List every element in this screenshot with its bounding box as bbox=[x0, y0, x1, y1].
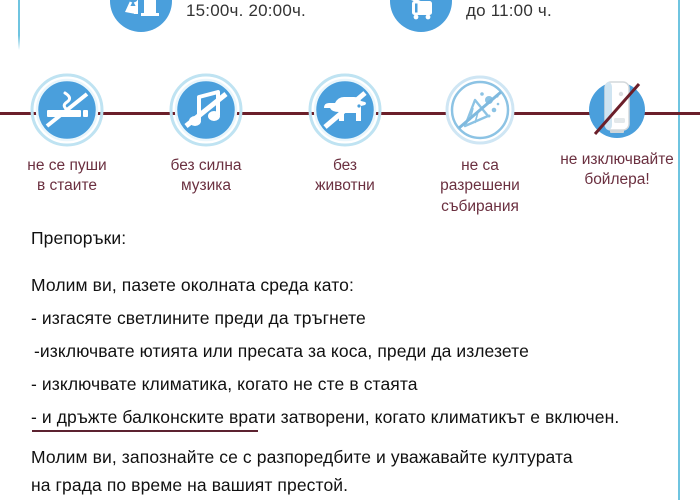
check-out-value: до 11:00 ч. bbox=[466, 1, 610, 21]
rule-item-no-loud-music: без силнамузика bbox=[131, 72, 281, 197]
recommendation-item-4: - и дръжте балконските врати затворени, … bbox=[31, 407, 676, 428]
recommendations-heading: Препоръки: bbox=[31, 228, 676, 249]
rule-caption-do-not-switch-off-boiler: не изключвайтебойлера! bbox=[542, 150, 692, 191]
footer-line-1: Молим ви, запознайте се с разпоредбите и… bbox=[31, 447, 679, 468]
rule-item-do-not-switch-off-boiler: не изключвайтебойлера! bbox=[542, 76, 692, 191]
recommendation-item-3: - изключвате климатика, когато не сте в … bbox=[31, 374, 676, 395]
rule-caption-no-loud-music: без силнамузика bbox=[131, 156, 281, 197]
rule-caption-no-smoking: не се пушив стаите bbox=[0, 156, 142, 197]
rule-item-no-pets: безживотни bbox=[270, 72, 420, 197]
footer-note: Молим ви, запознайте се с разпоредбите и… bbox=[31, 447, 679, 500]
recommendation-item-2: -изключвате ютията или пресата за коса, … bbox=[31, 341, 676, 362]
footer-divider-rule bbox=[32, 430, 258, 432]
house-rules-icon-row: не се пушив стаите без силнамузика bbox=[0, 72, 700, 232]
map-pin-building-icon bbox=[110, 0, 172, 32]
house-rules-poster: Настаняване: 15:00ч. 20:00ч. Освобождава… bbox=[0, 0, 700, 500]
rule-item-no-parties: не саразрешенисъбирания bbox=[405, 72, 555, 217]
rule-item-no-smoking: не се пушив стаите bbox=[0, 72, 142, 197]
footer-line-2: на града по време на вашият престой. bbox=[31, 475, 679, 496]
check-in-info: Настаняване: 15:00ч. 20:00ч. bbox=[110, 0, 306, 32]
no-pets-icon bbox=[307, 72, 383, 148]
check-in-value: 15:00ч. 20:00ч. bbox=[186, 1, 306, 21]
do-not-switch-off-boiler-icon bbox=[583, 76, 651, 144]
no-smoking-icon bbox=[29, 72, 105, 148]
luggage-airplane-icon bbox=[390, 0, 452, 32]
rule-caption-no-parties: не саразрешенисъбирания bbox=[405, 156, 555, 217]
recommendation-item-1: - изгасяте светлините преди да тръгнете bbox=[31, 308, 676, 329]
check-out-info: Освобождаване: до 11:00 ч. bbox=[390, 0, 610, 32]
top-info-row: Настаняване: 15:00ч. 20:00ч. Освобождава… bbox=[0, 0, 700, 48]
no-parties-icon bbox=[442, 72, 518, 148]
recommendations-section: Препоръки: Молим ви, пазете околната сре… bbox=[31, 228, 676, 440]
recommendations-intro: Молим ви, пазете околната среда като: bbox=[31, 275, 676, 296]
rule-caption-no-pets: безживотни bbox=[270, 156, 420, 197]
no-loud-music-icon bbox=[168, 72, 244, 148]
